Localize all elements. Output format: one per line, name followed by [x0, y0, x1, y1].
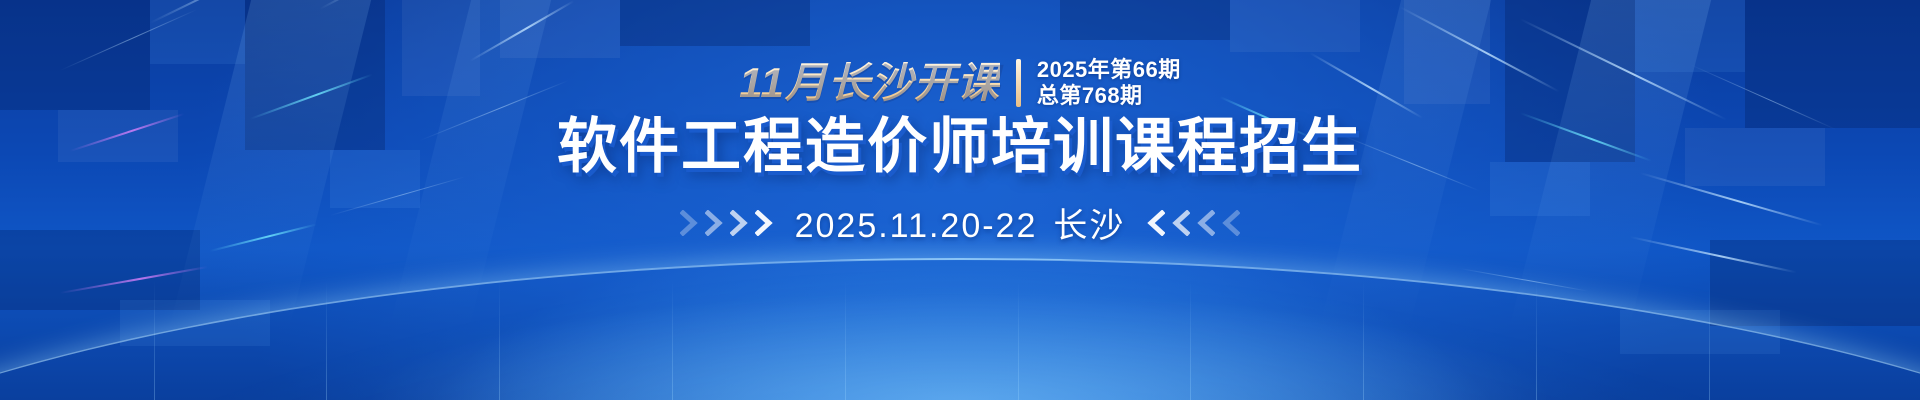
chevron-right-quad-icon	[680, 210, 777, 236]
banner-content: 11月长沙开课 2025年第66期 总第768期 软件工程造价师培训课程招生 2…	[0, 0, 1920, 400]
event-date-location: 2025.11.20-22长沙	[795, 198, 1126, 247]
course-promo-banner: 11月长沙开课 2025年第66期 总第768期 软件工程造价师培训课程招生 2…	[0, 0, 1920, 400]
kicker-text: 11月长沙开课	[739, 62, 1000, 104]
kicker-row: 11月长沙开课 2025年第66期 总第768期	[739, 58, 1181, 108]
page-title: 软件工程造价师培训课程招生	[557, 114, 1363, 180]
issue-badge: 2025年第66期 总第768期	[1037, 58, 1181, 108]
chevron-left-quad-icon	[1143, 210, 1240, 236]
event-date: 2025.11.20-22	[795, 207, 1038, 245]
issue-line-2: 总第768期	[1037, 84, 1181, 109]
date-row: 2025.11.20-22长沙	[680, 198, 1241, 247]
event-city: 长沙	[1053, 207, 1125, 245]
issue-line-1: 2025年第66期	[1037, 58, 1181, 83]
vertical-divider	[1016, 59, 1021, 107]
